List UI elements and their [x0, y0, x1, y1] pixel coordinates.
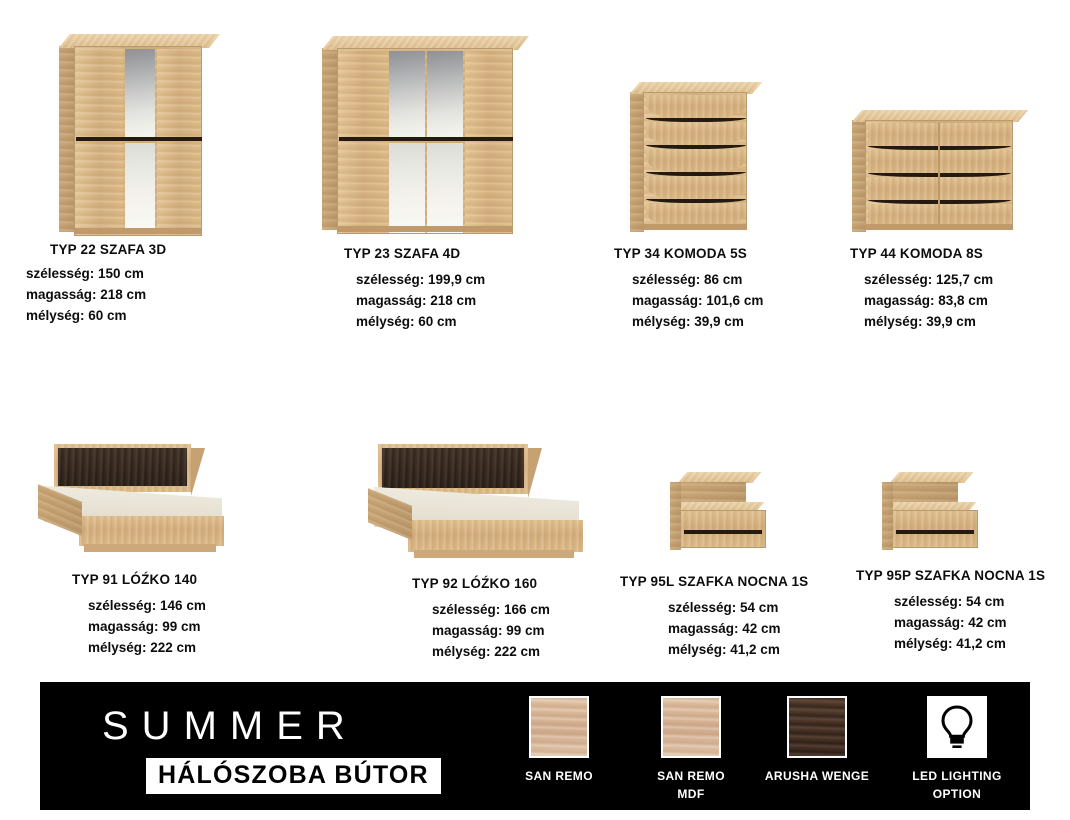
- product-dimensions: szélesség: 86 cm magasság: 101,6 cm mély…: [632, 270, 830, 333]
- dimension-width: szélesség: 125,7 cm: [864, 270, 1070, 291]
- wardrobe-door-right[interactable]: [465, 51, 512, 233]
- product-dimensions: szélesség: 125,7 cm magasság: 83,8 cm mé…: [864, 270, 1070, 333]
- dimension-height: magasság: 42 cm: [668, 619, 838, 640]
- product-title: TYP 44 KOMODA 8S: [850, 246, 1070, 261]
- chest-center-divider: [938, 123, 940, 228]
- swatch-label-line2: MDF: [632, 785, 750, 803]
- chest-drawer-5[interactable]: [868, 177, 939, 202]
- dimension-depth: mélység: 60 cm: [356, 312, 568, 333]
- swatch-arusha-wenge[interactable]: ARUSHA WENGE: [758, 696, 876, 785]
- nightstand-handle-groove: [896, 530, 974, 534]
- bed-headboard-side: [528, 448, 542, 498]
- nightstand-drawer-front[interactable]: [892, 510, 978, 548]
- chest-drawer-2[interactable]: [940, 123, 1011, 148]
- swatch-led-lighting[interactable]: LED LIGHTING OPTION: [898, 696, 1016, 803]
- bed-plinth: [84, 544, 216, 552]
- chest-body: [643, 92, 747, 230]
- chest-body: [865, 120, 1013, 230]
- product-dimensions: szélesség: 199,9 cm magasság: 218 cm mél…: [356, 270, 568, 333]
- wardrobe-mirror-lower-right[interactable]: [427, 143, 463, 233]
- wardrobe-body: [74, 46, 202, 236]
- product-dimensions: szélesség: 54 cm magasság: 42 cm mélység…: [668, 598, 838, 661]
- dimension-width: szélesség: 146 cm: [88, 596, 284, 617]
- dimension-depth: mélység: 41,2 cm: [894, 634, 1070, 655]
- nightstand-shelf-recess: [892, 482, 958, 502]
- chest-drawer-6[interactable]: [940, 177, 1011, 202]
- product-dimensions: szélesség: 54 cm magasság: 42 cm mélység…: [894, 592, 1070, 655]
- product-typ-95p[interactable]: TYP 95P SZAFKA NOCNA 1S szélesség: 54 cm…: [848, 430, 1070, 655]
- product-title: TYP 23 SZAFA 4D: [344, 246, 568, 261]
- product-typ-92[interactable]: TYP 92 LÓŹKO 160 szélesség: 166 cm magas…: [368, 430, 648, 663]
- chest-drawer-3[interactable]: [646, 149, 746, 174]
- bed-headboard-panel: [382, 448, 524, 488]
- dimension-width: szélesség: 86 cm: [632, 270, 830, 291]
- swatch-label: ARUSHA WENGE: [758, 767, 876, 785]
- chest-plinth: [865, 224, 1013, 230]
- chest-drawer-1[interactable]: [646, 95, 746, 120]
- wardrobe-body: [337, 48, 513, 234]
- catalog-page: TYP 22 SZAFA 3D szélesség: 150 cm magass…: [0, 0, 1070, 820]
- swatch-label: SAN REMO: [632, 767, 750, 785]
- product-image-chest-5-drawer: [600, 24, 830, 232]
- dimension-depth: mélység: 60 cm: [26, 306, 254, 327]
- wardrobe-plinth: [74, 228, 202, 234]
- nightstand-side-panel: [882, 482, 893, 550]
- dimension-depth: mélység: 222 cm: [88, 638, 284, 659]
- swatch-san-remo-mdf[interactable]: SAN REMO MDF: [632, 696, 750, 803]
- product-typ-34[interactable]: TYP 34 KOMODA 5S szélesség: 86 cm magass…: [600, 24, 830, 333]
- brand-banner: SUMMER HÁLÓSZOBA BÚTOR SAN REMO SAN REMO…: [40, 682, 1030, 810]
- product-typ-22[interactable]: TYP 22 SZAFA 3D szélesség: 150 cm magass…: [24, 24, 254, 327]
- swatch-label-line2: OPTION: [898, 785, 1016, 803]
- product-title: TYP 95P SZAFKA NOCNA 1S: [856, 568, 1070, 583]
- dimension-height: magasság: 83,8 cm: [864, 291, 1070, 312]
- dimension-height: magasság: 218 cm: [356, 291, 568, 312]
- wardrobe-mirror-upper[interactable]: [125, 49, 155, 139]
- product-typ-95l[interactable]: TYP 95L SZAFKA NOCNA 1S szélesség: 54 cm…: [608, 430, 838, 661]
- product-image-bed-160: [368, 430, 648, 560]
- wardrobe-door-left[interactable]: [77, 49, 123, 235]
- swatch-label: SAN REMO: [500, 767, 618, 785]
- dimension-depth: mélység: 41,2 cm: [668, 640, 838, 661]
- product-image-chest-8-drawer: [840, 24, 1070, 232]
- dimension-height: magasság: 42 cm: [894, 613, 1070, 634]
- wardrobe-mirror-upper-left[interactable]: [389, 51, 425, 139]
- wardrobe-mirror-lower-left[interactable]: [389, 143, 425, 233]
- wardrobe-door-left[interactable]: [340, 51, 387, 233]
- product-title: TYP 95L SZAFKA NOCNA 1S: [620, 574, 838, 589]
- product-title: TYP 22 SZAFA 3D: [50, 242, 254, 257]
- bed-headboard-panel: [58, 448, 187, 486]
- chest-drawer-3[interactable]: [868, 150, 939, 175]
- wood-swatch-icon: [787, 696, 847, 758]
- bed-plinth: [414, 550, 574, 558]
- nightstand-side-panel: [670, 482, 681, 550]
- chest-drawer-2[interactable]: [646, 122, 746, 147]
- product-typ-91[interactable]: TYP 91 LÓŹKO 140 szélesség: 146 cm magas…: [24, 430, 284, 659]
- dimension-width: szélesség: 54 cm: [668, 598, 838, 619]
- dimension-depth: mélység: 39,9 cm: [864, 312, 1070, 333]
- wood-swatch-icon: [529, 696, 589, 758]
- dimension-width: szélesség: 199,9 cm: [356, 270, 568, 291]
- wardrobe-mirror-upper-right[interactable]: [427, 51, 463, 139]
- product-image-bed-140: [24, 430, 284, 560]
- dimension-depth: mélység: 39,9 cm: [632, 312, 830, 333]
- dimension-height: magasság: 101,6 cm: [632, 291, 830, 312]
- wardrobe-plinth: [337, 226, 513, 232]
- swatch-san-remo[interactable]: SAN REMO: [500, 696, 618, 785]
- brand-name: SUMMER: [102, 704, 358, 749]
- product-image-nightstand-right: [848, 430, 1070, 560]
- product-image-wardrobe-3d: [24, 24, 254, 232]
- nightstand-shelf-recess: [680, 482, 746, 502]
- product-image-wardrobe-4d: [318, 24, 568, 232]
- wardrobe-mirror-lower[interactable]: [125, 143, 155, 233]
- chest-drawer-1[interactable]: [868, 123, 939, 148]
- dimension-height: magasság: 218 cm: [26, 285, 254, 306]
- swatch-label: LED LIGHTING: [898, 767, 1016, 785]
- chest-drawer-4[interactable]: [940, 150, 1011, 175]
- bed-frame-front: [79, 516, 224, 546]
- chest-side-panel: [852, 120, 866, 232]
- bed-headboard-side: [191, 448, 205, 496]
- wardrobe-handle-groove: [76, 137, 202, 141]
- wood-swatch-icon: [661, 696, 721, 758]
- wardrobe-side-panel: [322, 48, 338, 230]
- chest-drawer-4[interactable]: [646, 176, 746, 201]
- product-typ-23[interactable]: TYP 23 SZAFA 4D szélesség: 199,9 cm maga…: [318, 24, 568, 333]
- wardrobe-handle-groove: [339, 137, 513, 141]
- dimension-width: szélesség: 150 cm: [26, 264, 254, 285]
- chest-plinth: [643, 224, 747, 230]
- chest-side-panel: [630, 92, 644, 232]
- dimension-height: magasság: 99 cm: [88, 617, 284, 638]
- wardrobe-side-panel: [59, 46, 75, 232]
- product-typ-44[interactable]: TYP 44 KOMODA 8S szélesség: 125,7 cm mag…: [840, 24, 1070, 333]
- wardrobe-door-right[interactable]: [157, 49, 201, 235]
- bed-frame-front: [408, 520, 583, 552]
- product-title: TYP 34 KOMODA 5S: [614, 246, 830, 261]
- nightstand-drawer-front[interactable]: [680, 510, 766, 548]
- product-image-nightstand-left: [608, 430, 838, 560]
- dimension-width: szélesség: 54 cm: [894, 592, 1070, 613]
- product-dimensions: szélesség: 150 cm magasság: 218 cm mélys…: [26, 264, 254, 327]
- brand-subtitle: HÁLÓSZOBA BÚTOR: [146, 758, 441, 794]
- product-dimensions: szélesség: 146 cm magasság: 99 cm mélysé…: [88, 596, 284, 659]
- nightstand-handle-groove: [684, 530, 762, 534]
- lightbulb-icon: [927, 696, 987, 758]
- product-title: TYP 91 LÓŹKO 140: [72, 572, 284, 587]
